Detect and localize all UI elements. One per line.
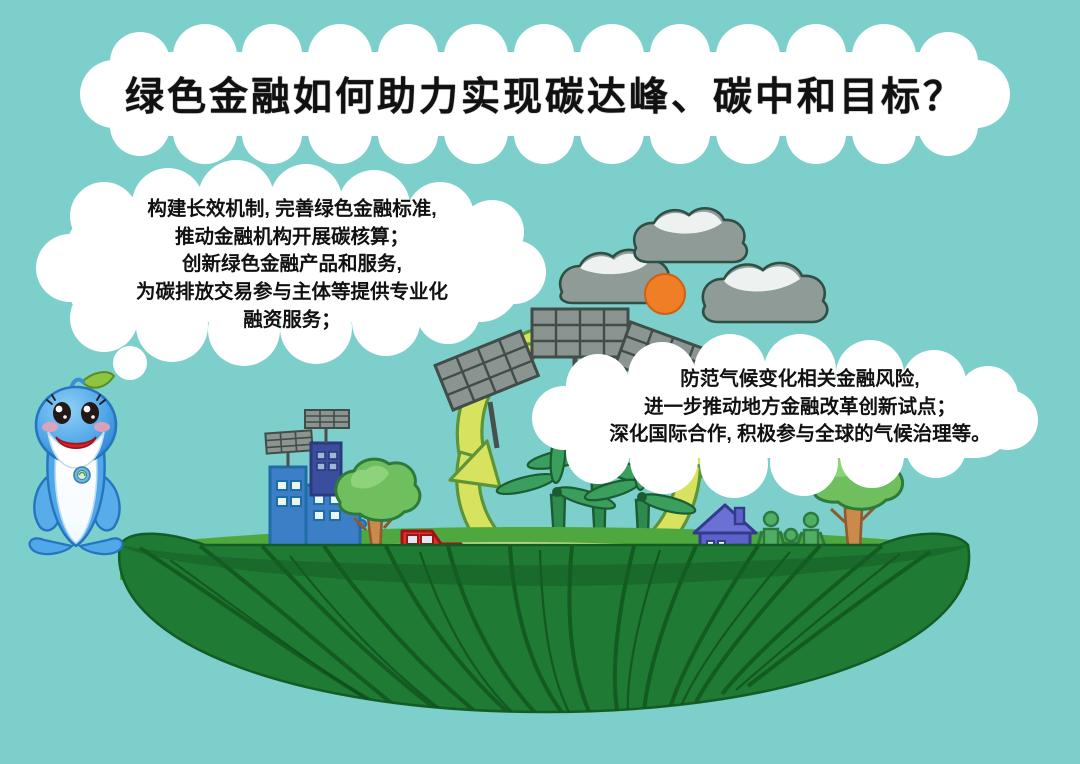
infographic-poster: 绿色金融如何助力实现碳达峰、碳中和目标？ 构建长效机制, 完善绿色金融标准, 推… xyxy=(0,0,1080,764)
left-bubble-line-4: 为碳排放交易参与主体等提供专业化 xyxy=(52,279,532,307)
sun-icon xyxy=(645,274,685,314)
eye-left xyxy=(53,402,71,424)
solar-panel-left xyxy=(435,331,538,448)
cloud-2-icon xyxy=(634,208,747,262)
green-leaf-boat xyxy=(119,534,969,718)
left-bubble-line-2: 推动金融机构开展碳核算； xyxy=(52,224,532,252)
right-bubble-line-3: 深化国际合作, 积极参与全球的气候治理等。 xyxy=(560,421,1040,449)
cloud-3-icon xyxy=(703,263,827,322)
left-bubble-line-5: 融资服务； xyxy=(52,307,532,335)
cheek-left xyxy=(42,422,58,432)
right-bubble-text: 防范气候变化相关金融风险, 进一步推动地方金融改革创新试点； 深化国际合作, 积… xyxy=(560,366,1040,449)
left-bubble-line-3: 创新绿色金融产品和服务, xyxy=(52,251,532,279)
badge-icon xyxy=(74,467,90,483)
title-banner: 绿色金融如何助力实现碳达峰、碳中和目标？ xyxy=(88,40,1002,148)
left-bubble-tail-dot xyxy=(113,346,147,380)
left-bubble-text: 构建长效机制, 完善绿色金融标准, 推动金融机构开展碳核算； 创新绿色金融产品和… xyxy=(52,196,532,334)
right-bubble-line-2: 进一步推动地方金融改革创新试点； xyxy=(560,394,1040,422)
eye-right xyxy=(81,402,99,424)
sprout-leaf-icon xyxy=(82,372,114,387)
page-title: 绿色金融如何助力实现碳达峰、碳中和目标？ xyxy=(88,40,1002,148)
left-bubble-line-1: 构建长效机制, 完善绿色金融标准, xyxy=(52,196,532,224)
right-bubble-line-1: 防范气候变化相关金融风险, xyxy=(560,366,1040,394)
dolphin-mascot xyxy=(30,372,123,554)
cheek-right xyxy=(94,422,110,432)
